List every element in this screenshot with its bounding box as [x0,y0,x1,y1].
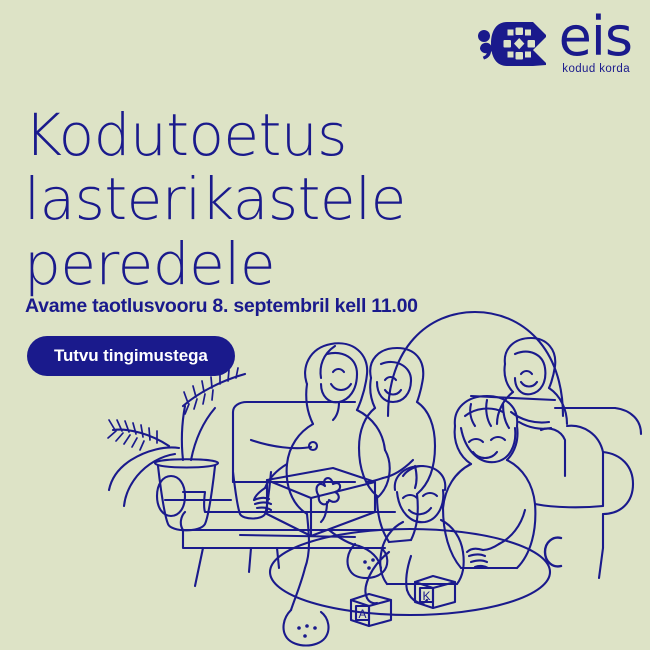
figure-grandmother [497,338,567,429]
eis-wordmark-group: eis kodud korda [559,12,632,75]
eis-tagline: kodud korda [562,63,630,75]
eis-wordmark: eis [559,12,632,62]
headline-line-3: peredele [24,232,494,296]
page-title: Kodutoetus lasterikastele peredele [24,103,494,296]
promo-banner: eis kodud korda Kodutoetus lasterikastel… [0,0,650,650]
family-illustration: A K [55,300,650,650]
headline-line-1: Kodutoetus [24,103,494,167]
toy-block-letter-a: A [358,607,366,621]
potted-plant [108,368,271,530]
headline-line-2: lasterikastele [24,167,494,231]
toy-letter-c [545,538,561,567]
eis-ornament-shield-logo-icon [477,16,549,77]
toy-block-letter-k: K [422,589,430,603]
figure-father [443,396,535,568]
eis-logo[interactable]: eis kodud korda [477,16,632,77]
